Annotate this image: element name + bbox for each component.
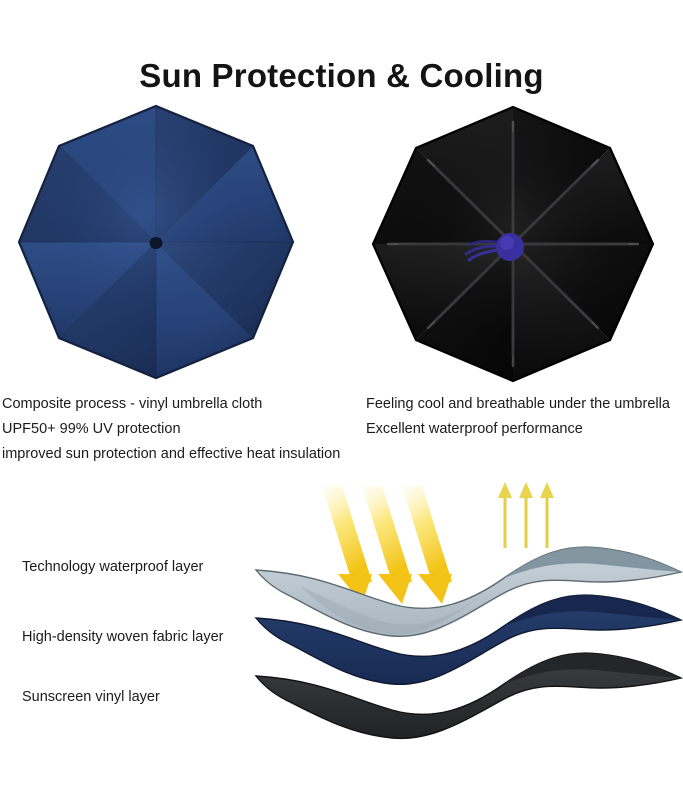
layer-diagram: Technology waterproof layer High-density… bbox=[0, 470, 683, 740]
feature-left-2: UPF50+ 99% UV protection bbox=[2, 417, 340, 442]
page-title: Sun Protection & Cooling bbox=[0, 58, 683, 94]
feature-left-3: improved sun protection and effective he… bbox=[2, 442, 340, 467]
hub-highlight bbox=[500, 236, 514, 250]
layer-art bbox=[0, 470, 683, 740]
layer-shape-vinyl bbox=[256, 653, 681, 738]
feature-right-2: Excellent waterproof performance bbox=[366, 417, 670, 442]
heat-escape-up-icon bbox=[498, 482, 554, 548]
black-umbrella-image bbox=[370, 104, 656, 384]
infographic-page: Sun Protection & Cooling bbox=[0, 0, 683, 800]
feature-left-1: Composite process - vinyl umbrella cloth bbox=[2, 392, 340, 417]
navy-umbrella-image bbox=[18, 104, 294, 380]
navy-umbrella-hub bbox=[150, 237, 163, 249]
feature-list-left: Composite process - vinyl umbrella cloth… bbox=[2, 392, 340, 467]
sun-rays-down-icon bbox=[322, 486, 452, 604]
feature-right-1: Feeling cool and breathable under the um… bbox=[366, 392, 670, 417]
feature-list-right: Feeling cool and breathable under the um… bbox=[366, 392, 670, 442]
